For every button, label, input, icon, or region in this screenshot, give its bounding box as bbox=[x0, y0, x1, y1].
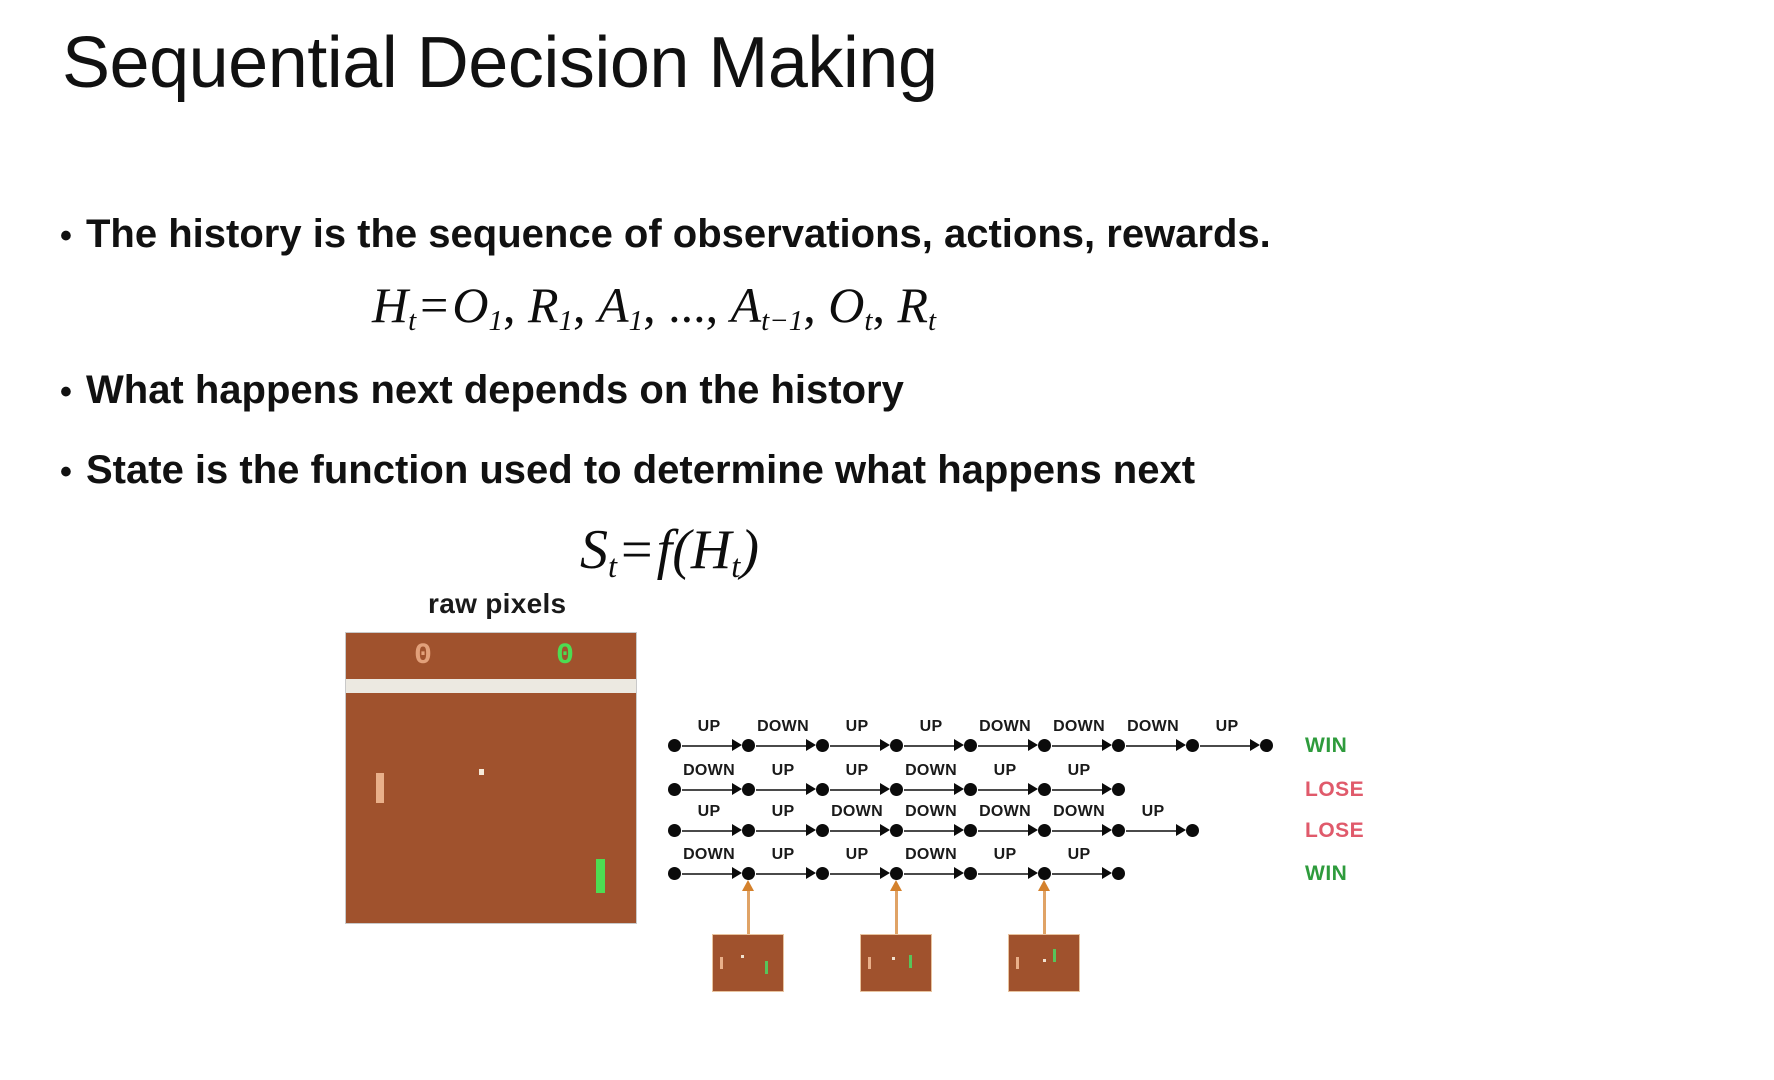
trajectory-arrow-icon bbox=[954, 824, 964, 836]
trajectory-arrow-icon bbox=[1250, 739, 1260, 751]
formula-token: f bbox=[657, 519, 673, 581]
trajectory-action-label: DOWN bbox=[757, 718, 809, 736]
formula-token: R1 bbox=[528, 277, 573, 333]
trajectory-state-node bbox=[1112, 783, 1125, 796]
trajectory-edge bbox=[978, 745, 1030, 747]
trajectory-edge bbox=[682, 873, 734, 875]
trajectory-state-node bbox=[890, 824, 903, 837]
trajectory-state-node bbox=[1112, 739, 1125, 752]
trajectory-edge bbox=[1052, 789, 1104, 791]
trajectory-edge bbox=[830, 830, 882, 832]
bullet-text: What happens next depends on the history bbox=[86, 368, 904, 413]
trajectory-state-node bbox=[890, 867, 903, 880]
trajectory-state-node bbox=[1112, 867, 1125, 880]
trajectory-action-label: UP bbox=[1068, 846, 1091, 864]
trajectory-state-node bbox=[742, 739, 755, 752]
formula-paren: ( bbox=[672, 519, 691, 581]
trajectory-state-node bbox=[668, 867, 681, 880]
trajectory-outcome-label: WIN bbox=[1305, 734, 1347, 758]
trajectory-arrow-icon bbox=[954, 739, 964, 751]
trajectory-state-node bbox=[1260, 739, 1273, 752]
thumbnail-pointer-arrow-icon bbox=[895, 886, 898, 934]
formula-comma: , bbox=[872, 277, 897, 333]
trajectory-edge bbox=[978, 830, 1030, 832]
trajectory-arrow-icon bbox=[732, 739, 742, 751]
trajectory-row: DOWNUPUPDOWNUPUPLOSE bbox=[660, 762, 1380, 806]
trajectory-edge bbox=[756, 789, 808, 791]
bullet-marker-icon: • bbox=[60, 455, 86, 489]
trajectory-action-label: DOWN bbox=[683, 762, 735, 780]
formula-token: Ht bbox=[691, 519, 740, 581]
trajectory-state-node bbox=[1038, 783, 1051, 796]
bullet-item-history: • The history is the sequence of observa… bbox=[60, 212, 1271, 257]
trajectory-arrow-icon bbox=[806, 739, 816, 751]
pong-paddle-left bbox=[376, 773, 384, 803]
trajectory-action-label: UP bbox=[920, 718, 943, 736]
formula-paren: ) bbox=[740, 519, 759, 581]
trajectory-edge bbox=[1200, 745, 1252, 747]
formula-comma: , bbox=[643, 277, 668, 333]
trajectory-outcome-label: LOSE bbox=[1305, 778, 1364, 802]
trajectory-row: DOWNUPUPDOWNUPUPWIN bbox=[660, 846, 1380, 890]
trajectory-state-node bbox=[816, 783, 829, 796]
pong-thumbnail bbox=[860, 934, 932, 992]
trajectory-action-label: UP bbox=[846, 718, 869, 736]
trajectory-state-node bbox=[816, 739, 829, 752]
trajectory-diagram: UPDOWNUPUPDOWNDOWNDOWNUPWINDOWNUPUPDOWNU… bbox=[660, 700, 1380, 890]
trajectory-action-label: DOWN bbox=[1127, 718, 1179, 736]
thumbnail-ball bbox=[1043, 959, 1046, 962]
trajectory-state-node bbox=[1112, 824, 1125, 837]
trajectory-state-node bbox=[742, 867, 755, 880]
trajectory-state-node bbox=[890, 739, 903, 752]
thumbnail-paddle-left bbox=[868, 957, 871, 969]
trajectory-action-label: UP bbox=[846, 762, 869, 780]
trajectory-row: UPUPDOWNDOWNDOWNDOWNUPLOSE bbox=[660, 803, 1380, 847]
formula-history: Ht=O1, R1, A1, ..., At−1, Ot, Rt bbox=[372, 276, 936, 338]
formula-comma: , bbox=[706, 277, 731, 333]
trajectory-action-label: DOWN bbox=[979, 803, 1031, 821]
trajectory-arrow-icon bbox=[732, 824, 742, 836]
formula-token: Rt bbox=[897, 277, 936, 333]
trajectory-state-node bbox=[964, 824, 977, 837]
bullet-text: State is the function used to determine … bbox=[86, 448, 1195, 493]
thumbnail-ball bbox=[741, 955, 744, 958]
formula-comma: , bbox=[503, 277, 528, 333]
thumbnail-paddle-right bbox=[765, 961, 768, 974]
pong-game-screenshot: 0 0 bbox=[345, 632, 637, 924]
trajectory-action-label: UP bbox=[846, 846, 869, 864]
trajectory-action-label: DOWN bbox=[831, 803, 883, 821]
trajectory-arrow-icon bbox=[806, 824, 816, 836]
formula-token: St bbox=[580, 519, 617, 581]
trajectory-edge bbox=[682, 745, 734, 747]
trajectory-state-node bbox=[742, 783, 755, 796]
trajectory-state-node bbox=[1186, 739, 1199, 752]
trajectory-state-node bbox=[1038, 824, 1051, 837]
trajectory-arrow-icon bbox=[732, 783, 742, 795]
trajectory-state-node bbox=[816, 867, 829, 880]
thumbnail-paddle-right bbox=[909, 955, 912, 968]
bullet-item-state-function: • State is the function used to determin… bbox=[60, 448, 1195, 493]
pong-ball bbox=[479, 769, 484, 775]
trajectory-state-node bbox=[890, 783, 903, 796]
trajectory-arrow-icon bbox=[1176, 739, 1186, 751]
trajectory-action-label: UP bbox=[994, 846, 1017, 864]
trajectory-action-label: UP bbox=[772, 762, 795, 780]
trajectory-action-label: UP bbox=[698, 803, 721, 821]
trajectory-action-label: DOWN bbox=[905, 803, 957, 821]
trajectory-edge bbox=[1126, 745, 1178, 747]
raw-pixels-caption: raw pixels bbox=[428, 588, 566, 620]
trajectory-edge bbox=[1052, 830, 1104, 832]
thumbnail-pointer-arrowhead-icon bbox=[890, 880, 902, 891]
trajectory-state-node bbox=[964, 783, 977, 796]
trajectory-edge bbox=[904, 830, 956, 832]
trajectory-edge bbox=[830, 789, 882, 791]
trajectory-action-label: DOWN bbox=[905, 762, 957, 780]
formula-comma: , bbox=[803, 277, 828, 333]
thumbnail-paddle-left bbox=[720, 957, 723, 969]
trajectory-edge bbox=[904, 789, 956, 791]
trajectory-action-label: UP bbox=[1142, 803, 1165, 821]
trajectory-action-label: DOWN bbox=[1053, 718, 1105, 736]
trajectory-edge bbox=[904, 745, 956, 747]
trajectory-edge bbox=[756, 745, 808, 747]
formula-ellipsis: ... bbox=[668, 277, 706, 333]
trajectory-action-label: UP bbox=[772, 846, 795, 864]
pong-thumbnail bbox=[712, 934, 784, 992]
trajectory-edge bbox=[756, 830, 808, 832]
trajectory-state-node bbox=[1186, 824, 1199, 837]
trajectory-edge bbox=[1052, 873, 1104, 875]
formula-token: O1 bbox=[452, 277, 503, 333]
thumbnail-paddle-right bbox=[1053, 949, 1056, 962]
formula-token: At−1 bbox=[731, 277, 804, 333]
trajectory-arrow-icon bbox=[1102, 739, 1112, 751]
trajectory-arrow-icon bbox=[1028, 739, 1038, 751]
trajectory-arrow-icon bbox=[806, 867, 816, 879]
formula-state: St=f(Ht) bbox=[580, 518, 759, 586]
thumbnail-pointer-arrow-icon bbox=[1043, 886, 1046, 934]
trajectory-action-label: DOWN bbox=[683, 846, 735, 864]
formula-operator: = bbox=[617, 519, 657, 581]
trajectory-arrow-icon bbox=[1028, 867, 1038, 879]
trajectory-arrow-icon bbox=[880, 824, 890, 836]
trajectory-arrow-icon bbox=[1102, 824, 1112, 836]
trajectory-state-node bbox=[1038, 867, 1051, 880]
trajectory-action-label: DOWN bbox=[905, 846, 957, 864]
thumbnail-pointer-arrowhead-icon bbox=[742, 880, 754, 891]
trajectory-edge bbox=[830, 873, 882, 875]
formula-token: A1 bbox=[598, 277, 643, 333]
trajectory-edge bbox=[682, 830, 734, 832]
trajectory-state-node bbox=[742, 824, 755, 837]
trajectory-arrow-icon bbox=[880, 867, 890, 879]
trajectory-action-label: UP bbox=[1068, 762, 1091, 780]
thumbnail-paddle-left bbox=[1016, 957, 1019, 969]
pong-paddle-right bbox=[596, 859, 605, 893]
trajectory-action-label: UP bbox=[772, 803, 795, 821]
bullet-item-next-depends: • What happens next depends on the histo… bbox=[60, 368, 904, 413]
trajectory-action-label: DOWN bbox=[979, 718, 1031, 736]
pong-score-left: 0 bbox=[414, 641, 432, 671]
trajectory-arrow-icon bbox=[880, 739, 890, 751]
trajectory-action-label: UP bbox=[698, 718, 721, 736]
trajectory-edge bbox=[682, 789, 734, 791]
trajectory-action-label: DOWN bbox=[1053, 803, 1105, 821]
trajectory-state-node bbox=[964, 739, 977, 752]
trajectory-arrow-icon bbox=[954, 783, 964, 795]
trajectory-state-node bbox=[668, 783, 681, 796]
pong-thumbnail bbox=[1008, 934, 1080, 992]
bullet-text: The history is the sequence of observati… bbox=[86, 212, 1271, 257]
trajectory-action-label: UP bbox=[1216, 718, 1239, 736]
trajectory-outcome-label: WIN bbox=[1305, 862, 1347, 886]
thumbnail-pointer-arrowhead-icon bbox=[1038, 880, 1050, 891]
trajectory-arrow-icon bbox=[806, 783, 816, 795]
trajectory-row: UPDOWNUPUPDOWNDOWNDOWNUPWIN bbox=[660, 718, 1380, 762]
trajectory-edge bbox=[904, 873, 956, 875]
trajectory-edge bbox=[830, 745, 882, 747]
formula-operator: = bbox=[416, 277, 452, 333]
trajectory-state-node bbox=[668, 824, 681, 837]
trajectory-edge bbox=[978, 873, 1030, 875]
pong-score-right: 0 bbox=[556, 641, 574, 671]
trajectory-arrow-icon bbox=[1176, 824, 1186, 836]
trajectory-arrow-icon bbox=[880, 783, 890, 795]
page-title: Sequential Decision Making bbox=[62, 22, 938, 104]
trajectory-state-node bbox=[964, 867, 977, 880]
bullet-marker-icon: • bbox=[60, 219, 86, 253]
trajectory-action-label: UP bbox=[994, 762, 1017, 780]
trajectory-arrow-icon bbox=[954, 867, 964, 879]
bullet-marker-icon: • bbox=[60, 375, 86, 409]
trajectory-arrow-icon bbox=[1102, 867, 1112, 879]
trajectory-outcome-label: LOSE bbox=[1305, 819, 1364, 843]
formula-comma: , bbox=[573, 277, 598, 333]
formula-token: Ot bbox=[828, 277, 872, 333]
trajectory-state-node bbox=[1038, 739, 1051, 752]
thumbnail-ball bbox=[892, 957, 895, 960]
thumbnail-pointer-arrow-icon bbox=[747, 886, 750, 934]
trajectory-state-node bbox=[816, 824, 829, 837]
trajectory-arrow-icon bbox=[732, 867, 742, 879]
trajectory-arrow-icon bbox=[1028, 783, 1038, 795]
trajectory-arrow-icon bbox=[1102, 783, 1112, 795]
trajectory-arrow-icon bbox=[1028, 824, 1038, 836]
trajectory-state-node bbox=[668, 739, 681, 752]
trajectory-edge bbox=[756, 873, 808, 875]
trajectory-edge bbox=[1052, 745, 1104, 747]
trajectory-edge bbox=[1126, 830, 1178, 832]
pong-top-band bbox=[346, 679, 636, 693]
formula-token: Ht bbox=[372, 277, 416, 333]
trajectory-edge bbox=[978, 789, 1030, 791]
